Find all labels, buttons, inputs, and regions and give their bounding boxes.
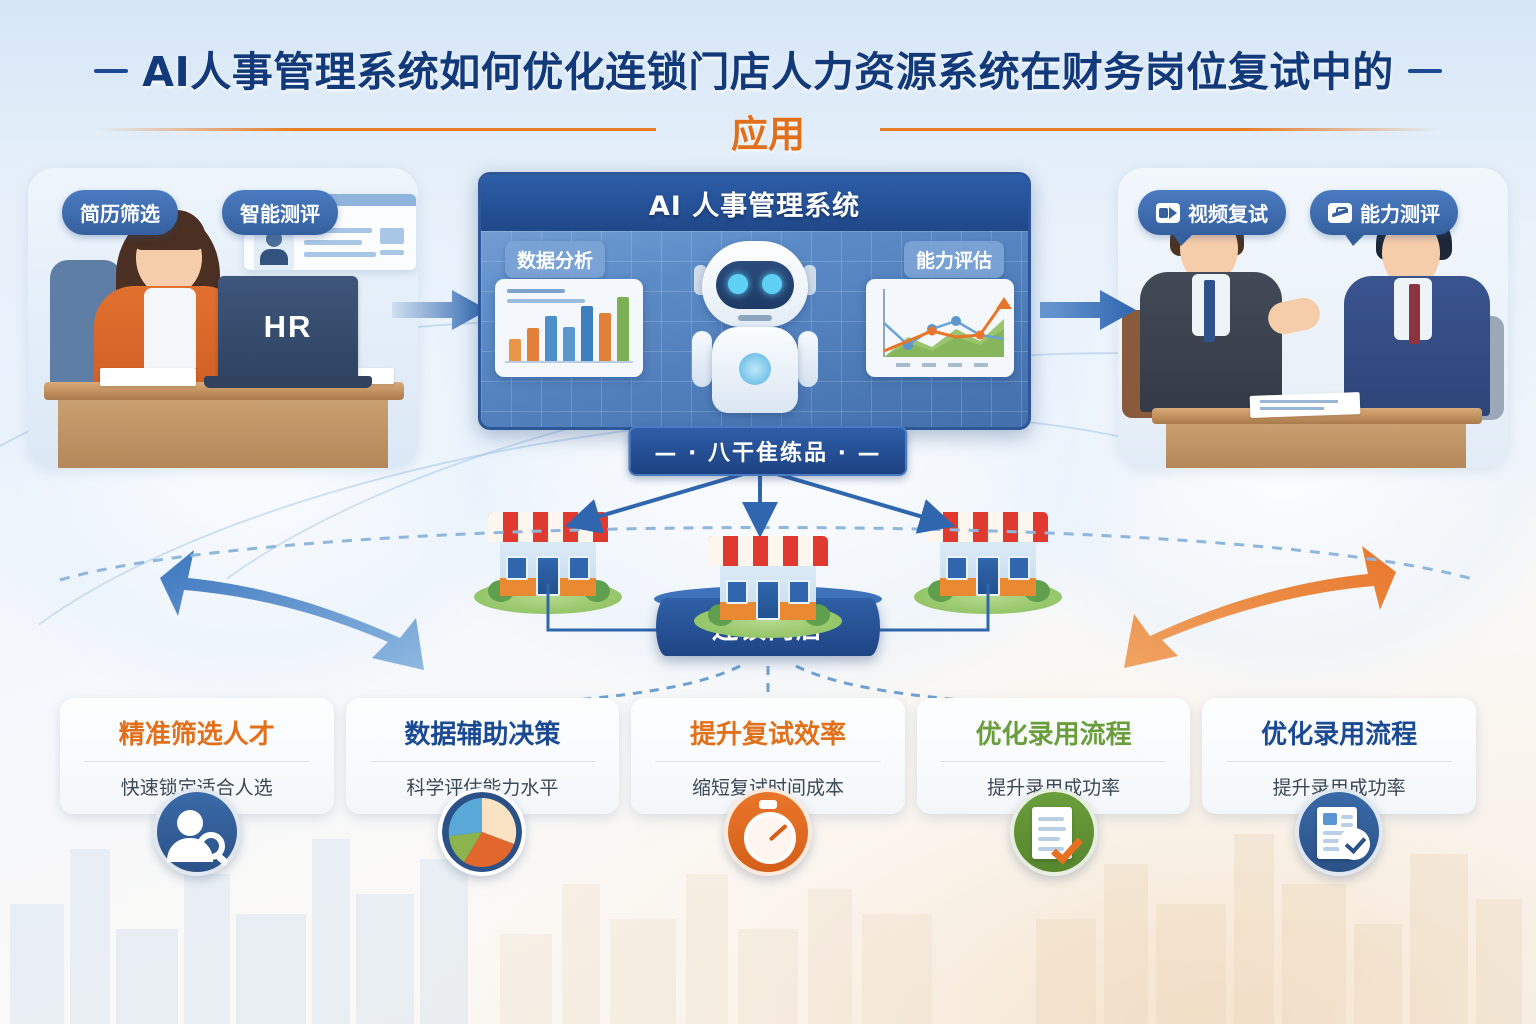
- title-rule-left: [96, 128, 656, 131]
- data-analysis-label-text: 数据分析: [517, 250, 593, 272]
- bar: [563, 327, 575, 361]
- page-title: AI人事管理系统如何优化连锁门店人力资源系统在财务岗位复试中的 应用: [0, 38, 1536, 152]
- hr-shirt: [144, 288, 196, 368]
- badge-ability-assessment[interactable]: 能力测评: [1310, 190, 1458, 235]
- document-line: [1260, 407, 1324, 410]
- chart-axis: [505, 361, 633, 363]
- desk-paper: [100, 368, 196, 386]
- benefit-card-4[interactable]: 优化录用流程 提升录用成功率: [917, 698, 1191, 814]
- benefit-card-2[interactable]: 数据辅助决策 科学评估能力水平: [346, 698, 620, 814]
- area-chart-card: [866, 279, 1014, 377]
- robot-mouth: [738, 315, 772, 321]
- video-icon: [1156, 203, 1180, 223]
- badge-smart-assessment[interactable]: 智能测评: [222, 190, 338, 235]
- benefit-card-3[interactable]: 提升复试效率 缩短复试时间成本: [631, 698, 905, 814]
- pie-chart-icon: [438, 788, 526, 876]
- core-function-text: — · 八干隹练品 · —: [654, 441, 881, 466]
- data-analysis-label: 数据分析: [505, 241, 605, 278]
- title-rule-right: [880, 128, 1440, 131]
- bar: [545, 316, 557, 361]
- pie-chart-svg: [442, 792, 522, 872]
- desk-front: [58, 400, 388, 468]
- badge-resume-screening[interactable]: 简历筛选: [62, 190, 178, 235]
- title-main-text: AI人事管理系统如何优化连锁门店人力资源系统在财务岗位复试中的: [94, 38, 1441, 98]
- card-divider: [655, 761, 881, 762]
- area-chart-svg: [866, 279, 1014, 377]
- bar: [617, 297, 629, 361]
- interview-document: [1250, 392, 1361, 418]
- arrow-left-to-center: [392, 288, 488, 332]
- bar-chart-card: [495, 279, 643, 377]
- badge-label: 智能测评: [240, 198, 320, 227]
- stopwatch-hand: [769, 824, 788, 842]
- benefit-card-1[interactable]: 精准筛选人才 快速锁定适合人选: [60, 698, 334, 814]
- panel-header-text: AI 人事管理系统: [649, 184, 860, 223]
- robot-head: [702, 241, 808, 327]
- badge-label: 简历筛选: [80, 198, 160, 227]
- card-divider: [370, 761, 596, 762]
- interviewer-tie: [1409, 284, 1420, 344]
- robot-eye-right: [762, 274, 782, 294]
- stopwatch-button: [759, 800, 777, 809]
- laptop-screen: HR: [218, 276, 358, 378]
- document-line: [1260, 400, 1338, 403]
- chart-title-line: [507, 299, 585, 303]
- laptop-label: HR: [264, 309, 313, 345]
- city-skyline-center: [500, 834, 960, 1024]
- chart-title-line: [507, 289, 565, 293]
- card-title: 优化录用流程: [1212, 714, 1466, 751]
- store-window-right: [788, 580, 810, 604]
- resume-line: [380, 228, 404, 244]
- document-thumbnail: [1323, 813, 1337, 825]
- robot-arm-right: [798, 331, 818, 387]
- card-title: 精准筛选人才: [70, 714, 324, 751]
- candidate-tie: [1204, 280, 1215, 342]
- store-door: [756, 580, 780, 620]
- ability-evaluation-label-text: 能力评估: [916, 250, 992, 272]
- document-check-blue-icon: [1295, 788, 1383, 876]
- card-title: 数据辅助决策: [356, 714, 610, 751]
- card-title: 提升复试效率: [641, 714, 895, 751]
- arrow-center-to-right: [1040, 288, 1136, 332]
- robot-mascot: [680, 235, 830, 430]
- card-divider: [84, 761, 310, 762]
- store-awning: [708, 536, 828, 566]
- stopwatch-icon: [724, 788, 812, 876]
- card-title: 优化录用流程: [927, 714, 1181, 751]
- stopwatch-face: [744, 812, 796, 864]
- title-subtitle-row: 应用: [0, 104, 1536, 152]
- resume-line: [304, 252, 376, 257]
- benefit-card-5[interactable]: 优化录用流程 提升录用成功率: [1202, 698, 1476, 814]
- robot-visor: [716, 261, 794, 309]
- ai-system-panel: AI 人事管理系统 数据分析: [478, 172, 1031, 430]
- badge-label: 能力测评: [1360, 198, 1440, 227]
- checkmark-badge: [1338, 828, 1370, 860]
- benefit-cards-row: 精准筛选人才 快速锁定适合人选 数据辅助决策 科学评估能力水平 提升复试效率 缩…: [60, 698, 1476, 814]
- bar: [581, 306, 593, 361]
- badge-video-interview[interactable]: 视频复试: [1138, 190, 1286, 235]
- resume-line: [304, 240, 362, 245]
- robot-arm-left: [692, 331, 712, 387]
- person-search-icon: [153, 788, 241, 876]
- resume-line: [380, 250, 404, 255]
- bar: [509, 339, 521, 361]
- bar: [527, 328, 539, 361]
- core-function-bar: — · 八干隹练品 · —: [628, 426, 907, 476]
- store-window-left: [726, 580, 748, 604]
- laptop-base: [204, 376, 372, 388]
- title-sub-text: 应用: [705, 104, 831, 158]
- magnifier-glyph: [197, 832, 225, 860]
- robot-core-light: [739, 353, 771, 385]
- badge-label: 视频复试: [1188, 198, 1268, 227]
- ability-evaluation-label: 能力评估: [904, 241, 1004, 278]
- card-divider: [941, 761, 1167, 762]
- robot-body: [712, 327, 798, 413]
- interview-table-front: [1166, 424, 1466, 468]
- store-center: [694, 520, 842, 638]
- card-divider: [1226, 761, 1452, 762]
- bar: [599, 313, 611, 361]
- panel-body: 数据分析: [481, 231, 1028, 427]
- robot-eye-left: [728, 274, 748, 294]
- assessment-icon: [1328, 203, 1352, 223]
- panel-header: AI 人事管理系统: [481, 175, 1028, 231]
- document-check-green-icon: [1010, 788, 1098, 876]
